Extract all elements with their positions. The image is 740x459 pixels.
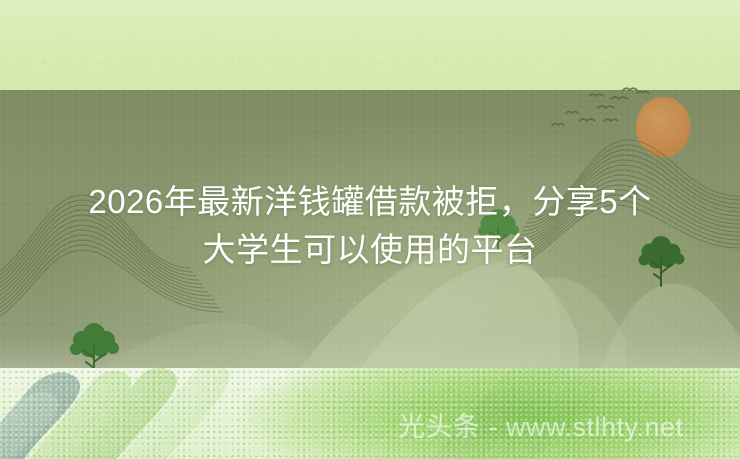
site-watermark: 光头条 - www.stlhty.net [398,410,684,444]
article-cover-image: 2026年最新洋钱罐借款被拒，分享5个 大学生可以使用的平台 光头条 - www… [0,0,740,459]
tree-right-icon [632,232,692,288]
tree-center-icon [472,205,526,253]
